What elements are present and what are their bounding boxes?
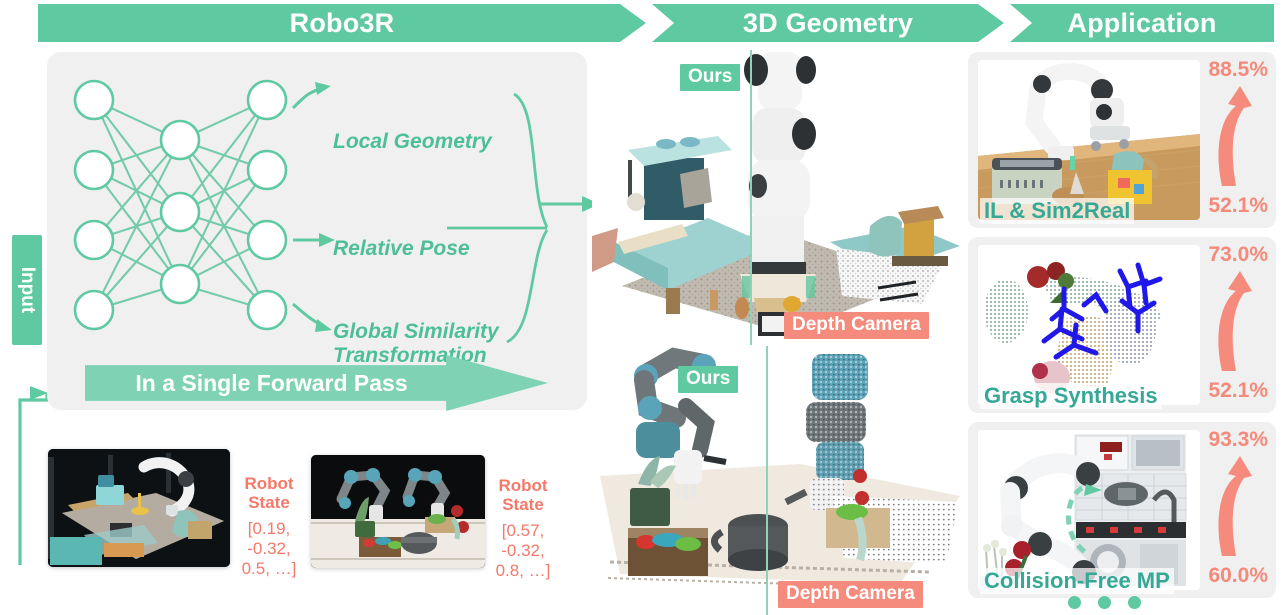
input-label-chip: Input <box>12 235 42 345</box>
metric-after: 88.5% <box>1208 58 1268 82</box>
figure-root: Robo3R 3D Geometry Application Input <box>0 0 1284 615</box>
robot-state-title: Robot State <box>238 474 300 512</box>
forward-pass-label: In a Single Forward Pass <box>135 370 407 397</box>
depth-camera-chip: Depth Camera <box>784 312 929 339</box>
application-caption: Collision-Free MP <box>980 568 1174 594</box>
stage-banner-3d-geometry: 3D Geometry <box>652 4 1004 42</box>
stage-banner-label: Robo3R <box>290 8 395 39</box>
stage-banner-label: Application <box>1067 8 1216 39</box>
input-label: Input <box>16 267 38 313</box>
dot-icon <box>1068 596 1081 609</box>
improvement-arrow-icon <box>1206 82 1262 194</box>
application-card-collision-free-mp[interactable]: Collision-Free MP 93.3% 60.0% <box>968 422 1276 598</box>
geometry-scene-dual-arm: Ours Depth Camera <box>600 346 960 615</box>
single-forward-pass-arrow: In a Single Forward Pass <box>85 355 548 411</box>
improvement-arrow-icon <box>1206 452 1262 564</box>
input-photo-dual-arm <box>311 455 485 568</box>
stage-banner-label: 3D Geometry <box>743 8 913 39</box>
metric-after: 93.3% <box>1208 428 1268 452</box>
output-relative-pose: Relative Pose <box>333 237 470 261</box>
stage-banner-robo3r: Robo3R <box>38 4 646 42</box>
application-thumbnail <box>978 245 1200 405</box>
metric-before: 52.1% <box>1208 379 1268 403</box>
stage-banner-application: Application <box>1010 4 1274 42</box>
robot-state-values: [0.19, -0.32, 0.5, …] <box>238 519 300 579</box>
metric-before: 52.1% <box>1208 194 1268 218</box>
application-caption: IL & Sim2Real <box>980 198 1134 224</box>
application-thumbnail <box>978 430 1200 590</box>
dot-icon <box>1098 596 1111 609</box>
geometry-scene-kitchen: Ours Depth Camera <box>592 50 960 345</box>
robot-state-title: Robot State <box>492 476 554 514</box>
scene-split-divider <box>750 50 752 345</box>
ours-chip: Ours <box>680 64 740 91</box>
robot-state-values: [0.57, -0.32, 0.8, …] <box>492 521 554 581</box>
scene-split-divider <box>766 346 768 615</box>
more-applications-indicator <box>1068 596 1141 609</box>
application-card-grasp-synthesis[interactable]: Grasp Synthesis 73.0% 52.1% <box>968 237 1276 413</box>
robot-state-dual-arm: Robot State [0.57, -0.32, 0.8, …] <box>492 476 554 581</box>
output-local-geometry: Local Geometry <box>333 130 492 154</box>
depth-camera-chip: Depth Camera <box>778 581 923 608</box>
metric-after: 73.0% <box>1208 243 1268 267</box>
ours-chip: Ours <box>678 366 738 393</box>
dot-icon <box>1128 596 1141 609</box>
robot-state-single-arm: Robot State [0.19, -0.32, 0.5, …] <box>238 474 300 579</box>
application-card-il-sim2real[interactable]: IL & Sim2Real 88.5% 52.1% <box>968 52 1276 228</box>
improvement-arrow-icon <box>1206 267 1262 379</box>
input-photo-single-arm <box>48 449 230 567</box>
metric-before: 60.0% <box>1208 564 1268 588</box>
application-thumbnail <box>978 60 1200 220</box>
application-caption: Grasp Synthesis <box>980 383 1162 409</box>
